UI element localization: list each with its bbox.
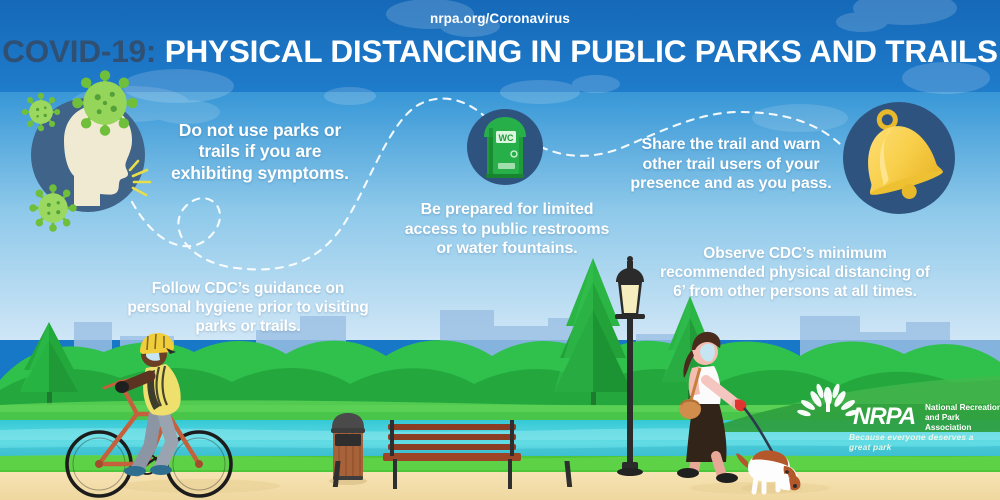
tip-hygiene-text: Follow CDC’s guidance on personal hygien… [104, 280, 392, 337]
cyclist-shoe [124, 466, 146, 476]
walker-shoe [677, 468, 699, 478]
lamp-glass [621, 285, 639, 313]
nrpa-logo-tagline: Because everyone deserves a great park [849, 432, 993, 452]
title-main-text: PHYSICAL DISTANCING IN PUBLIC PARKS AND … [165, 33, 998, 69]
tip-symptoms-text: Do not use parks or trails if you are ex… [130, 120, 390, 184]
infographic-canvas: WC [0, 0, 1000, 500]
restroom-wc-label: WC [499, 133, 514, 143]
portable-restroom-icon: WC [467, 109, 543, 185]
tip-restrooms-text: Be prepared for limited access to public… [382, 200, 632, 259]
bench-seat [383, 453, 521, 461]
title-covid-prefix: COVID-19: [2, 33, 156, 69]
walker-shoe [716, 473, 738, 483]
nrpa-logo-subtitle: National Recreation and Park Association [925, 403, 1000, 433]
tip-observe-distance-text: Observe CDC’s minimum recommended physic… [640, 245, 950, 302]
nrpa-logo-name: NRPA [853, 403, 915, 431]
cyclist-glove [115, 381, 129, 393]
source-url[interactable]: nrpa.org/Coronavirus [0, 11, 1000, 26]
walker-leg-front [716, 456, 722, 476]
bench-backrest [388, 424, 516, 450]
cyclist-shoe [150, 465, 172, 475]
tip-share-trail-text: Share the trail and warn other trail use… [608, 135, 854, 194]
nrpa-logo[interactable]: NRPA National Recreation and Park Associ… [803, 392, 993, 450]
page-title: COVID-19: PHYSICAL DISTANCING IN PUBLIC … [0, 33, 1000, 70]
